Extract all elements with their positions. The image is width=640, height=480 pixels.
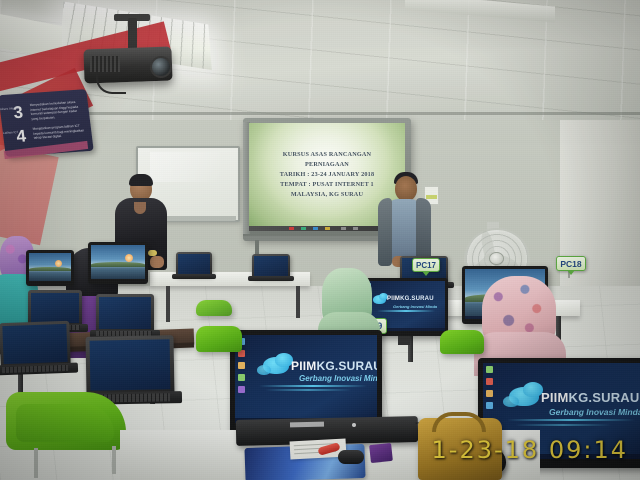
back-table-leg-right — [296, 286, 300, 318]
trainer-collar-neck — [134, 202, 146, 214]
pc-label-pc17: PC17 — [412, 258, 440, 272]
wallpaper-brand-suffix-mid: KG.SURAU — [400, 296, 434, 302]
classroom-photo: 3 4 Menyediakan kemudahan akses internet… — [0, 0, 640, 480]
green-chair-back-2[interactable] — [440, 330, 484, 354]
monitor-middle-stand — [398, 336, 410, 345]
trainer-wristwatch — [148, 250, 157, 256]
projector-lens-icon — [150, 56, 172, 78]
back-table-leg-left — [166, 286, 170, 322]
laptop-front-center[interactable] — [86, 335, 175, 395]
trainer-hair — [129, 174, 153, 186]
laptop-back-2[interactable] — [252, 254, 290, 278]
wallpaper-brand-prefix-left: PIIM — [291, 359, 316, 373]
projector-vent — [90, 56, 120, 72]
green-chair-back-1[interactable] — [196, 326, 242, 352]
purple-phone[interactable] — [369, 443, 393, 463]
laptop-front-left[interactable] — [0, 321, 71, 367]
black-desk-object[interactable] — [338, 450, 364, 464]
laptop-back-2-base[interactable] — [248, 276, 294, 281]
green-chair-back-3[interactable] — [196, 300, 232, 316]
green-chair-foreground-seat — [16, 404, 114, 442]
fan-hub — [489, 252, 504, 265]
chair-leg-2 — [112, 446, 116, 474]
wallpaper-piim-front-left: PIIMKG.SURAU Gerbang Inovasi Minda — [235, 335, 377, 423]
handbag-strap — [432, 412, 486, 432]
wallpaper-brand-suffix-left: KG.SURAU — [316, 359, 377, 373]
monitor-left-1[interactable] — [88, 242, 148, 284]
chair-leg-1 — [34, 448, 38, 478]
wallpaper-brand-prefix-right: PIIM — [541, 390, 569, 405]
keyboard-label-sticker — [290, 422, 324, 428]
camera-timestamp: 1-23-18 09:14 — [432, 436, 628, 464]
laptop-back-1[interactable] — [176, 252, 212, 276]
keyboard-screw — [352, 423, 356, 427]
pc-label-pc18: PC18 — [556, 256, 586, 271]
presenter-jacket-left — [378, 198, 392, 266]
slide-line-2: PERNIAGAAN — [252, 160, 402, 170]
wallpaper-brand-suffix-right: KG.SURAU — [569, 390, 640, 405]
presenter-head — [395, 176, 417, 201]
laptop-left-2[interactable] — [96, 294, 154, 332]
ceiling-wall-joint — [0, 112, 640, 115]
wallpaper-tagline-mid: Gerbang Inovasi Minda — [393, 304, 437, 309]
trainer-hand — [150, 256, 164, 268]
wallpaper-landscape-left-0 — [29, 253, 71, 281]
slide-line-1: KURSUS ASAS RANCANGAN — [252, 150, 402, 160]
wallpaper-landscape-left-1 — [91, 245, 145, 279]
monitor-left-0[interactable] — [26, 250, 74, 286]
wallpaper-tagline-left: Gerbang Inovasi Minda — [299, 374, 377, 383]
wallpaper-tagline-right: Gerbang Inovasi Minda — [549, 407, 640, 417]
sign-text-3: Menyediakan kemudahan akses internet ber… — [29, 99, 85, 121]
wallpaper-brand-prefix-mid: PIIM — [387, 296, 400, 302]
sign-text-4: Menjalankan program latihan ICT kepada k… — [32, 123, 88, 141]
presenter-jacket-right — [416, 198, 431, 264]
laptop-back-1-base[interactable] — [172, 274, 216, 279]
